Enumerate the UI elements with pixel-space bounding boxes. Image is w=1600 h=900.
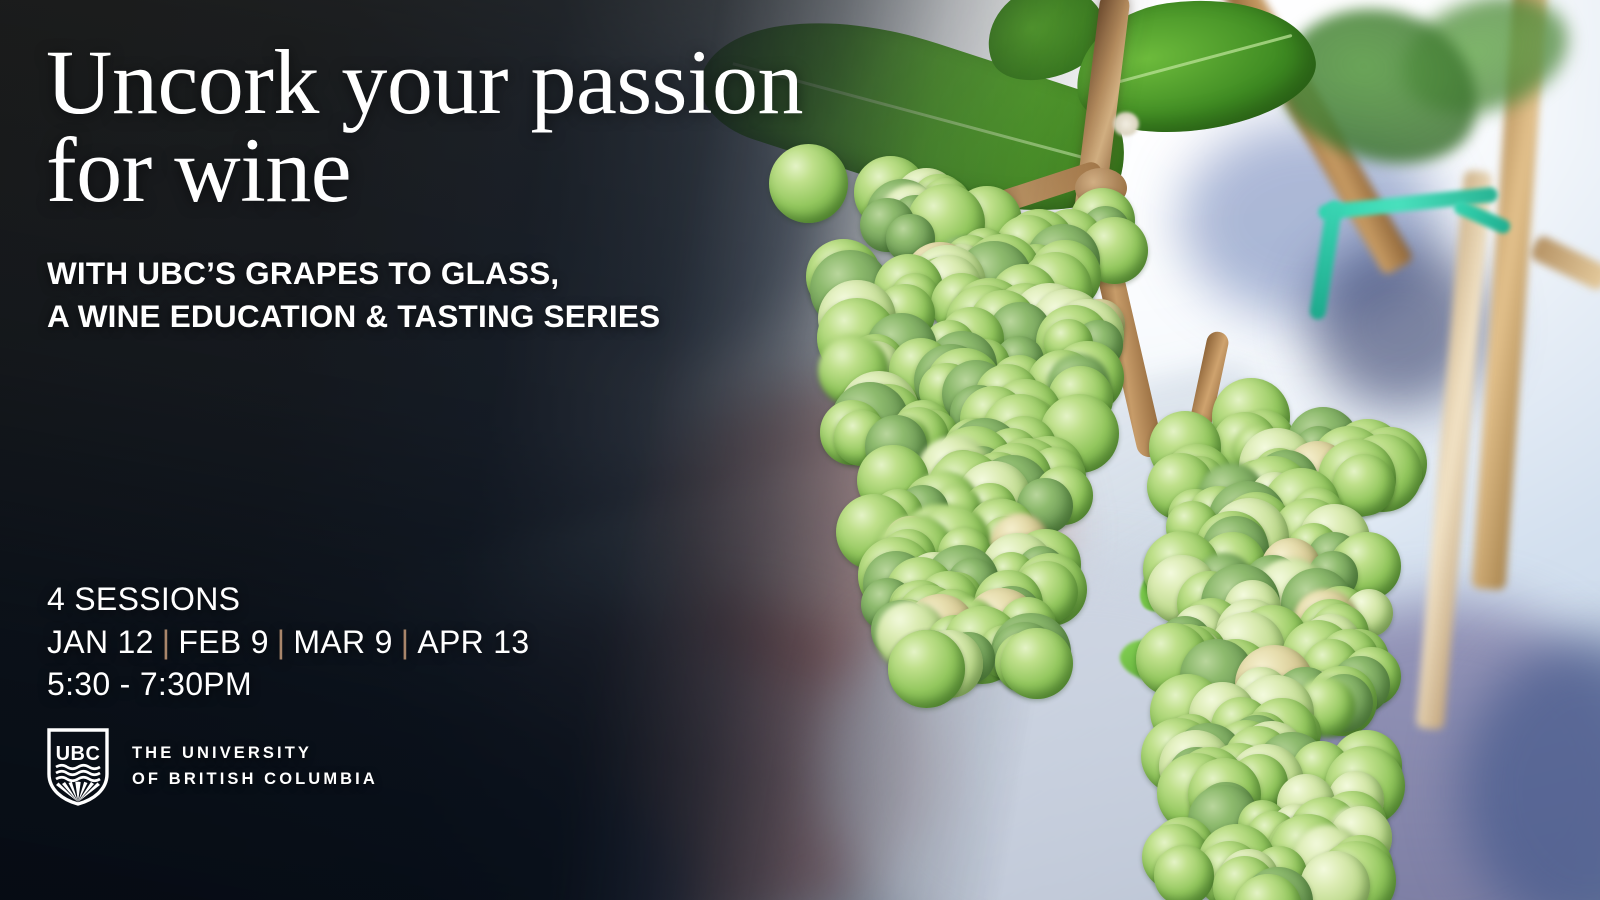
grape <box>1001 628 1072 699</box>
wordmark-line-1: THE UNIVERSITY <box>132 744 312 762</box>
grape <box>769 144 848 223</box>
headline-line-1: Uncork your passion <box>46 31 803 133</box>
poster-banner: Uncork your passion for wine WITH UBC’S … <box>0 0 1600 900</box>
ubc-wordmark: THE UNIVERSITY OF BRITISH COLUMBIA <box>132 741 378 792</box>
session-date: JAN 12 <box>47 624 154 660</box>
ubc-logo: UBC THE UNIVERSITY OF BRITISH COLUMBIA <box>47 728 378 806</box>
grape <box>1154 845 1215 900</box>
subtitle-line-1: WITH UBC’S GRAPES TO GLASS, <box>47 255 559 291</box>
wordmark-line-2: OF BRITISH COLUMBIA <box>132 767 378 793</box>
session-date: APR 13 <box>417 624 529 660</box>
ubc-crest-icon: UBC <box>47 728 109 806</box>
session-date: MAR 9 <box>293 624 392 660</box>
subtitle: WITH UBC’S GRAPES TO GLASS, A WINE EDUCA… <box>47 252 660 339</box>
grape <box>888 630 965 707</box>
svg-text:UBC: UBC <box>56 743 101 765</box>
date-separator: | <box>393 624 418 660</box>
date-separator: | <box>269 624 294 660</box>
session-details: 4 SESSIONS JAN 12|FEB 9|MAR 9|APR 13 5:3… <box>47 578 529 706</box>
session-date: FEB 9 <box>178 624 268 660</box>
session-time: 5:30 - 7:30PM <box>47 663 529 706</box>
session-count: 4 SESSIONS <box>47 578 529 621</box>
session-dates: JAN 12|FEB 9|MAR 9|APR 13 <box>47 621 529 664</box>
date-separator: | <box>154 624 179 660</box>
subtitle-line-2: A WINE EDUCATION & TASTING SERIES <box>47 295 660 338</box>
